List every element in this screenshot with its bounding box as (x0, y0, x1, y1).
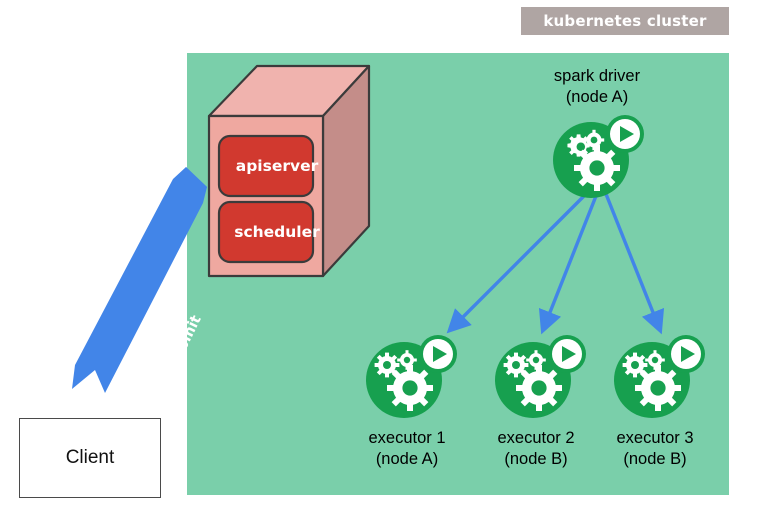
executor-1-node: (node A) (333, 449, 481, 470)
executor-1-label: executor 1 (node A) (333, 428, 481, 470)
spark-driver-label: spark driver (node A) (523, 66, 671, 108)
node-executor-3[interactable]: executor 3 (node B) (608, 330, 708, 422)
executor-1-name: executor 1 (333, 428, 481, 449)
spark-driver-name: spark driver (523, 66, 671, 87)
executor-3-node: (node B) (581, 449, 729, 470)
node-executor-1[interactable]: executor 1 (node A) (360, 330, 460, 422)
node-spark-driver[interactable]: spark driver (node A) (547, 110, 647, 202)
spark-driver-node: (node A) (523, 87, 671, 108)
executor-3-label: executor 3 (node B) (581, 428, 729, 470)
client-label: Client (66, 447, 115, 469)
diagram-canvas: kubernetes cluster Client spark-submit a… (0, 0, 761, 516)
control-plane-cube: apiserver scheduler (205, 62, 373, 280)
executor-3-name: executor 3 (581, 428, 729, 449)
cluster-badge: kubernetes cluster (521, 7, 729, 35)
node-executor-2[interactable]: executor 2 (node B) (489, 330, 589, 422)
spark-submit-arrow: spark-submit (55, 165, 215, 405)
client-box[interactable]: Client (19, 418, 161, 498)
